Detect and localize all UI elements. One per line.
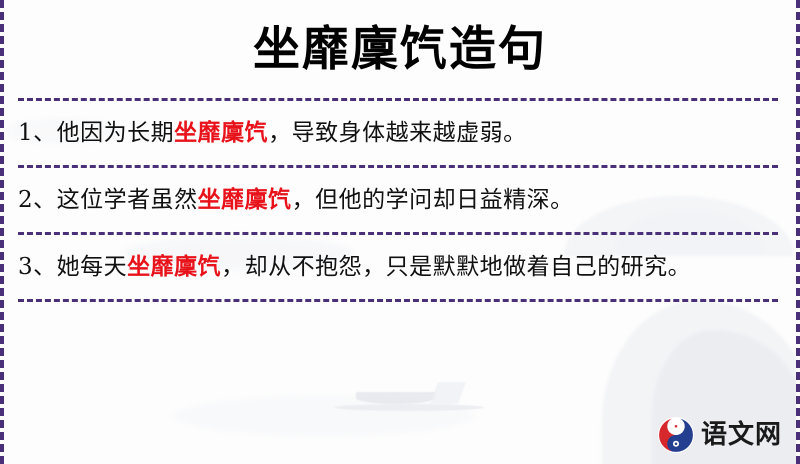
sentence-1-after: ，导致身体越来越虚弱。	[268, 120, 527, 146]
site-logo-text: 语文网	[701, 422, 782, 448]
bottom-spacer	[4, 302, 796, 376]
sentence-3-keyword: 坐靡廩饩	[127, 253, 221, 280]
sentence-2-index: 2、	[18, 187, 57, 213]
sentence-1-before: 他因为长期	[57, 120, 175, 146]
yinyang-circle-icon	[657, 416, 695, 454]
sentence-3-index: 3、	[18, 254, 57, 280]
sentence-3: 3、她每天坐靡廩饩，却从不抱怨，只是默默地做着自己的研究。	[18, 248, 778, 286]
sentence-list: 1、他因为长期坐靡廩饩，导致身体越来越虚弱。 2、这位学者虽然坐靡廩饩，但他的学…	[4, 101, 796, 302]
page-title: 坐靡廩饩造句	[253, 26, 547, 73]
sentence-1-keyword: 坐靡廩饩	[174, 119, 268, 146]
sentence-2: 2、这位学者虽然坐靡廩饩，但他的学问却日益精深。	[18, 181, 778, 219]
sentence-2-before: 这位学者虽然	[57, 187, 198, 213]
list-item: 1、他因为长期坐靡廩饩，导致身体越来越虚弱。	[4, 101, 796, 165]
list-item: 3、她每天坐靡廩饩，却从不抱怨，只是默默地做着自己的研究。	[4, 235, 796, 299]
sentence-1: 1、他因为长期坐靡廩饩，导致身体越来越虚弱。	[18, 114, 778, 152]
page-title-wrap: 坐靡廩饩造句	[4, 0, 796, 98]
page-root: 坐靡廩饩造句 1、他因为长期坐靡廩饩，导致身体越来越虚弱。 2、这位学者虽然坐靡…	[0, 0, 800, 464]
site-logo[interactable]: 语文网	[657, 416, 782, 454]
sentence-2-after: ，但他的学问却日益精深。	[292, 187, 574, 213]
sentence-2-keyword: 坐靡廩饩	[198, 186, 292, 213]
sentence-3-before: 她每天	[57, 254, 128, 280]
list-item: 2、这位学者虽然坐靡廩饩，但他的学问却日益精深。	[4, 168, 796, 232]
sentence-1-index: 1、	[18, 120, 57, 146]
sentence-3-after: ，却从不抱怨，只是默默地做着自己的研究。	[221, 254, 691, 280]
